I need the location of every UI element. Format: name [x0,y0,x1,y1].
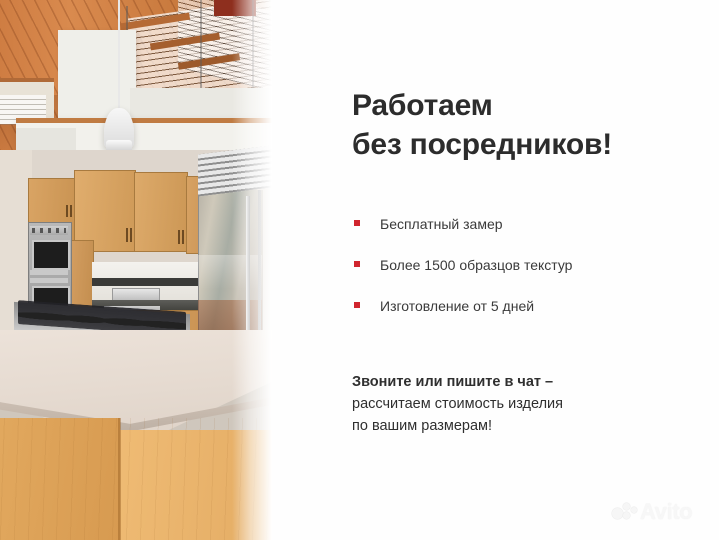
cabinet-handle [178,230,180,244]
headline-line-1: Работаем [352,86,652,125]
oven-window [32,240,70,270]
cabinet-handle [70,205,72,217]
red-square-bullet-icon [354,302,360,308]
list-item-label: Бесплатный замер [380,216,503,232]
oven-handle [30,270,68,275]
photo-right-fade [232,0,272,540]
avito-dots-icon [612,502,638,522]
oven-handle [30,278,68,283]
oven-knobs [32,228,66,233]
list-item: Более 1500 образцов текстур [352,257,682,274]
text-panel: Работаем без посредников! Бесплатный зам… [352,0,719,540]
avito-watermark: Avito [612,499,710,525]
headline: Работаем без посредников! [352,86,652,164]
avito-wordmark: Avito [640,499,692,525]
list-item-label: Изготовление от 5 дней [380,298,534,314]
feature-list: Бесплатный замер Более 1500 образцов тек… [352,216,682,338]
cabinet-handle [130,228,132,242]
cta-line-1: Звоните или пишите в чат – [352,371,652,393]
headline-line-2: без посредников! [352,125,652,164]
list-item: Бесплатный замер [352,216,682,233]
cabinet-handle [66,205,68,217]
call-to-action: Звоните или пишите в чат – рассчитаем ст… [352,371,652,437]
list-item-label: Более 1500 образцов текстур [380,257,572,273]
list-item: Изготовление от 5 дней [352,298,682,315]
red-square-bullet-icon [354,261,360,267]
cta-line-3: по вашим размерам! [352,415,652,437]
pendant-lamp-cord [118,0,120,112]
cabinet-handle [182,230,184,244]
cta-line-2: рассчитаем стоимость изделия [352,393,652,415]
advertisement-banner: Работаем без посредников! Бесплатный зам… [0,0,719,540]
kitchen-photo [0,0,272,540]
red-square-bullet-icon [354,220,360,226]
cabinet-handle [126,228,128,242]
